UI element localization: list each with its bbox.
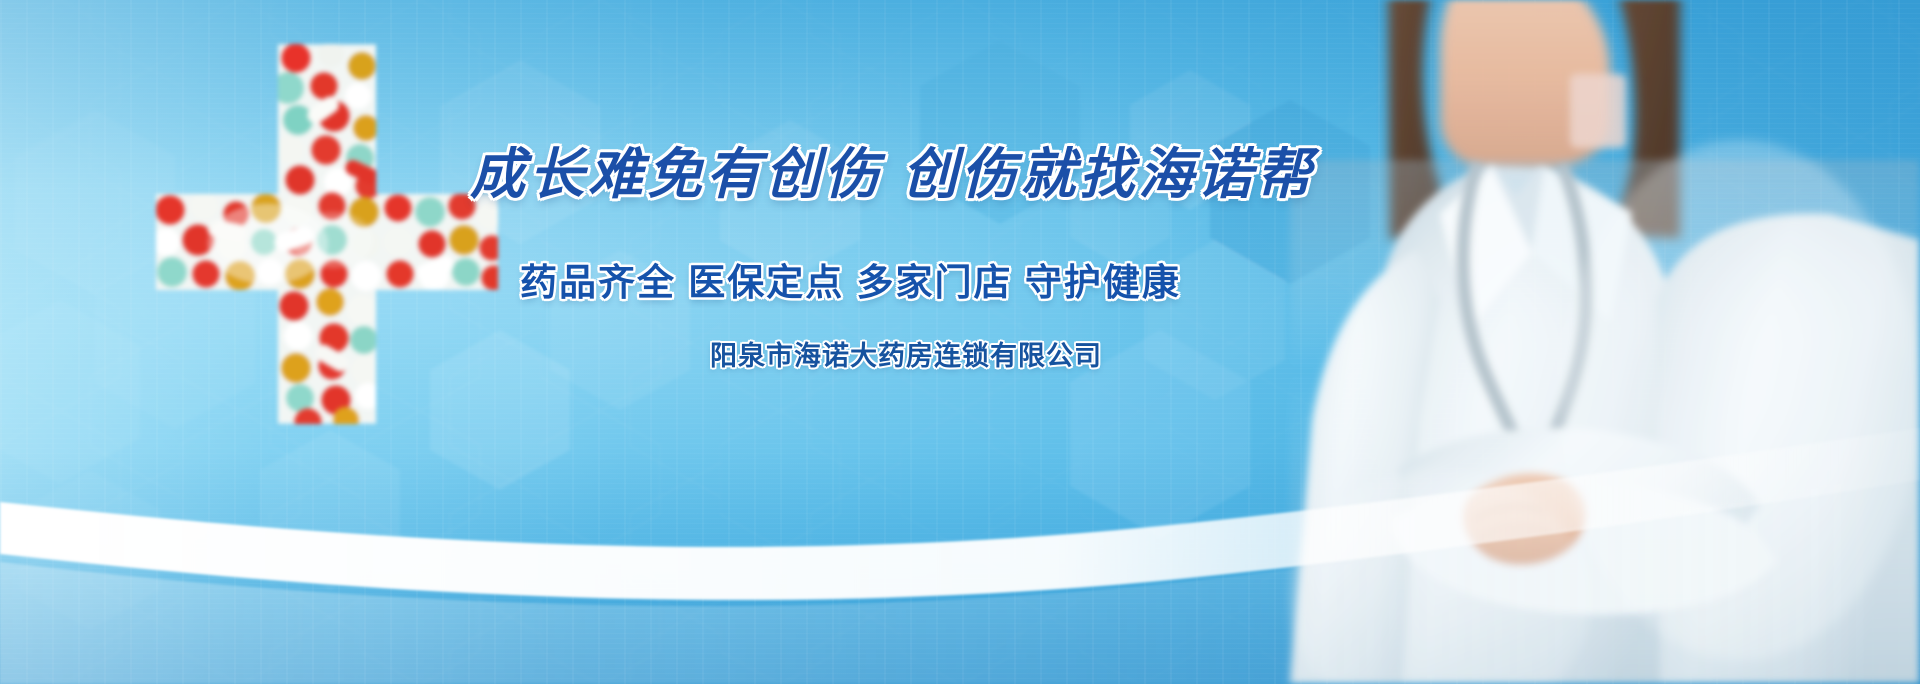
banner-company-name: 阳泉市海诺大药房连锁有限公司 <box>710 334 1102 373</box>
banner-copy: 成长难免有创伤 创伤就找海诺帮 药品齐全 医保定点 多家门店 守护健康 阳泉市海… <box>0 0 1300 684</box>
banner-subline: 药品齐全 医保定点 多家门店 守护健康 <box>520 252 1181 306</box>
banner-headline: 成长难免有创伤 创伤就找海诺帮 <box>470 146 1315 204</box>
pharmacy-banner: 成长难免有创伤 创伤就找海诺帮 药品齐全 医保定点 多家门店 守护健康 阳泉市海… <box>0 0 1920 684</box>
